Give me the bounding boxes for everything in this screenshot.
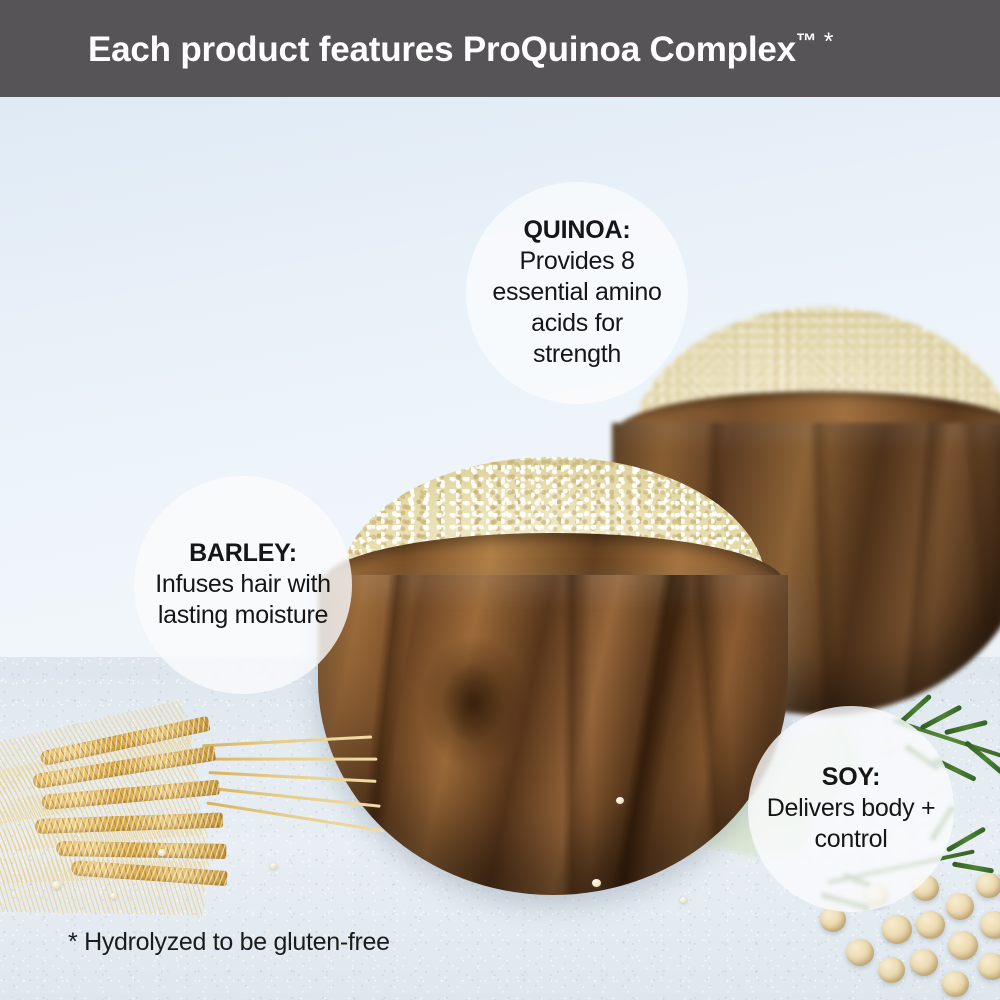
wheat-stem xyxy=(206,801,384,832)
title-asterisk: * xyxy=(824,28,834,56)
callout-barley[interactable]: BARLEY: Infuses hair with lasting moistu… xyxy=(134,476,352,694)
callout-barley-title: BARLEY: xyxy=(189,539,297,569)
infographic-root: Each product features ProQuinoa Complex™… xyxy=(0,0,1000,1000)
callout-quinoa-colon: : xyxy=(622,216,630,244)
front-wooden-bowl xyxy=(318,455,788,895)
soybean xyxy=(978,953,1000,980)
callout-soy-description: Delivers body + control xyxy=(760,793,942,855)
soybean xyxy=(980,911,1000,939)
soybean xyxy=(942,971,969,997)
soybean xyxy=(846,939,874,966)
scattered-quinoa-seed xyxy=(158,849,166,856)
soybean xyxy=(910,949,938,976)
soybean xyxy=(878,957,905,983)
rosemary-needle xyxy=(964,740,1000,775)
header-bar: Each product features ProQuinoa Complex™… xyxy=(0,0,1000,97)
scattered-quinoa-seed xyxy=(616,797,624,804)
soybean xyxy=(882,915,912,944)
callout-soy[interactable]: SOY: Delivers body + control xyxy=(748,706,954,912)
wheat-stem xyxy=(202,735,372,747)
wheat-stem xyxy=(209,771,377,783)
callout-quinoa-title: QUINOA: xyxy=(524,216,631,246)
soybean xyxy=(976,873,1000,898)
soybean xyxy=(916,911,945,939)
callout-barley-title-text: BARLEY xyxy=(189,539,289,567)
callout-quinoa[interactable]: QUINOA: Provides 8 essential amino acids… xyxy=(466,182,688,404)
page-title: Each product features ProQuinoa Complex™… xyxy=(88,28,833,70)
callout-quinoa-description: Provides 8 essential amino acids for str… xyxy=(480,246,674,370)
rosemary-needle xyxy=(944,720,988,735)
scattered-quinoa-seed xyxy=(680,897,687,903)
callout-barley-colon: : xyxy=(289,539,297,567)
callout-soy-title: SOY: xyxy=(822,763,880,793)
callout-barley-description: Infuses hair with lasting moisture xyxy=(144,569,342,631)
scattered-quinoa-seed xyxy=(270,863,277,869)
soybean xyxy=(946,893,974,920)
callout-soy-title-text: SOY xyxy=(822,763,872,791)
page-title-text: Each product features ProQuinoa Complex xyxy=(88,30,796,69)
scattered-quinoa-seed xyxy=(52,881,61,889)
callout-quinoa-title-text: QUINOA xyxy=(524,216,623,244)
trademark-symbol: ™ xyxy=(796,30,817,53)
footnote: * Hydrolyzed to be gluten-free xyxy=(68,928,390,957)
wheat-head xyxy=(56,841,226,859)
scattered-quinoa-seed xyxy=(592,879,601,887)
rosemary-needle xyxy=(946,826,987,852)
soybean xyxy=(948,931,978,960)
scattered-quinoa-seed xyxy=(110,893,117,899)
callout-soy-colon: : xyxy=(872,763,880,791)
wheat-stem xyxy=(202,758,377,761)
front-bowl-body xyxy=(318,575,788,895)
